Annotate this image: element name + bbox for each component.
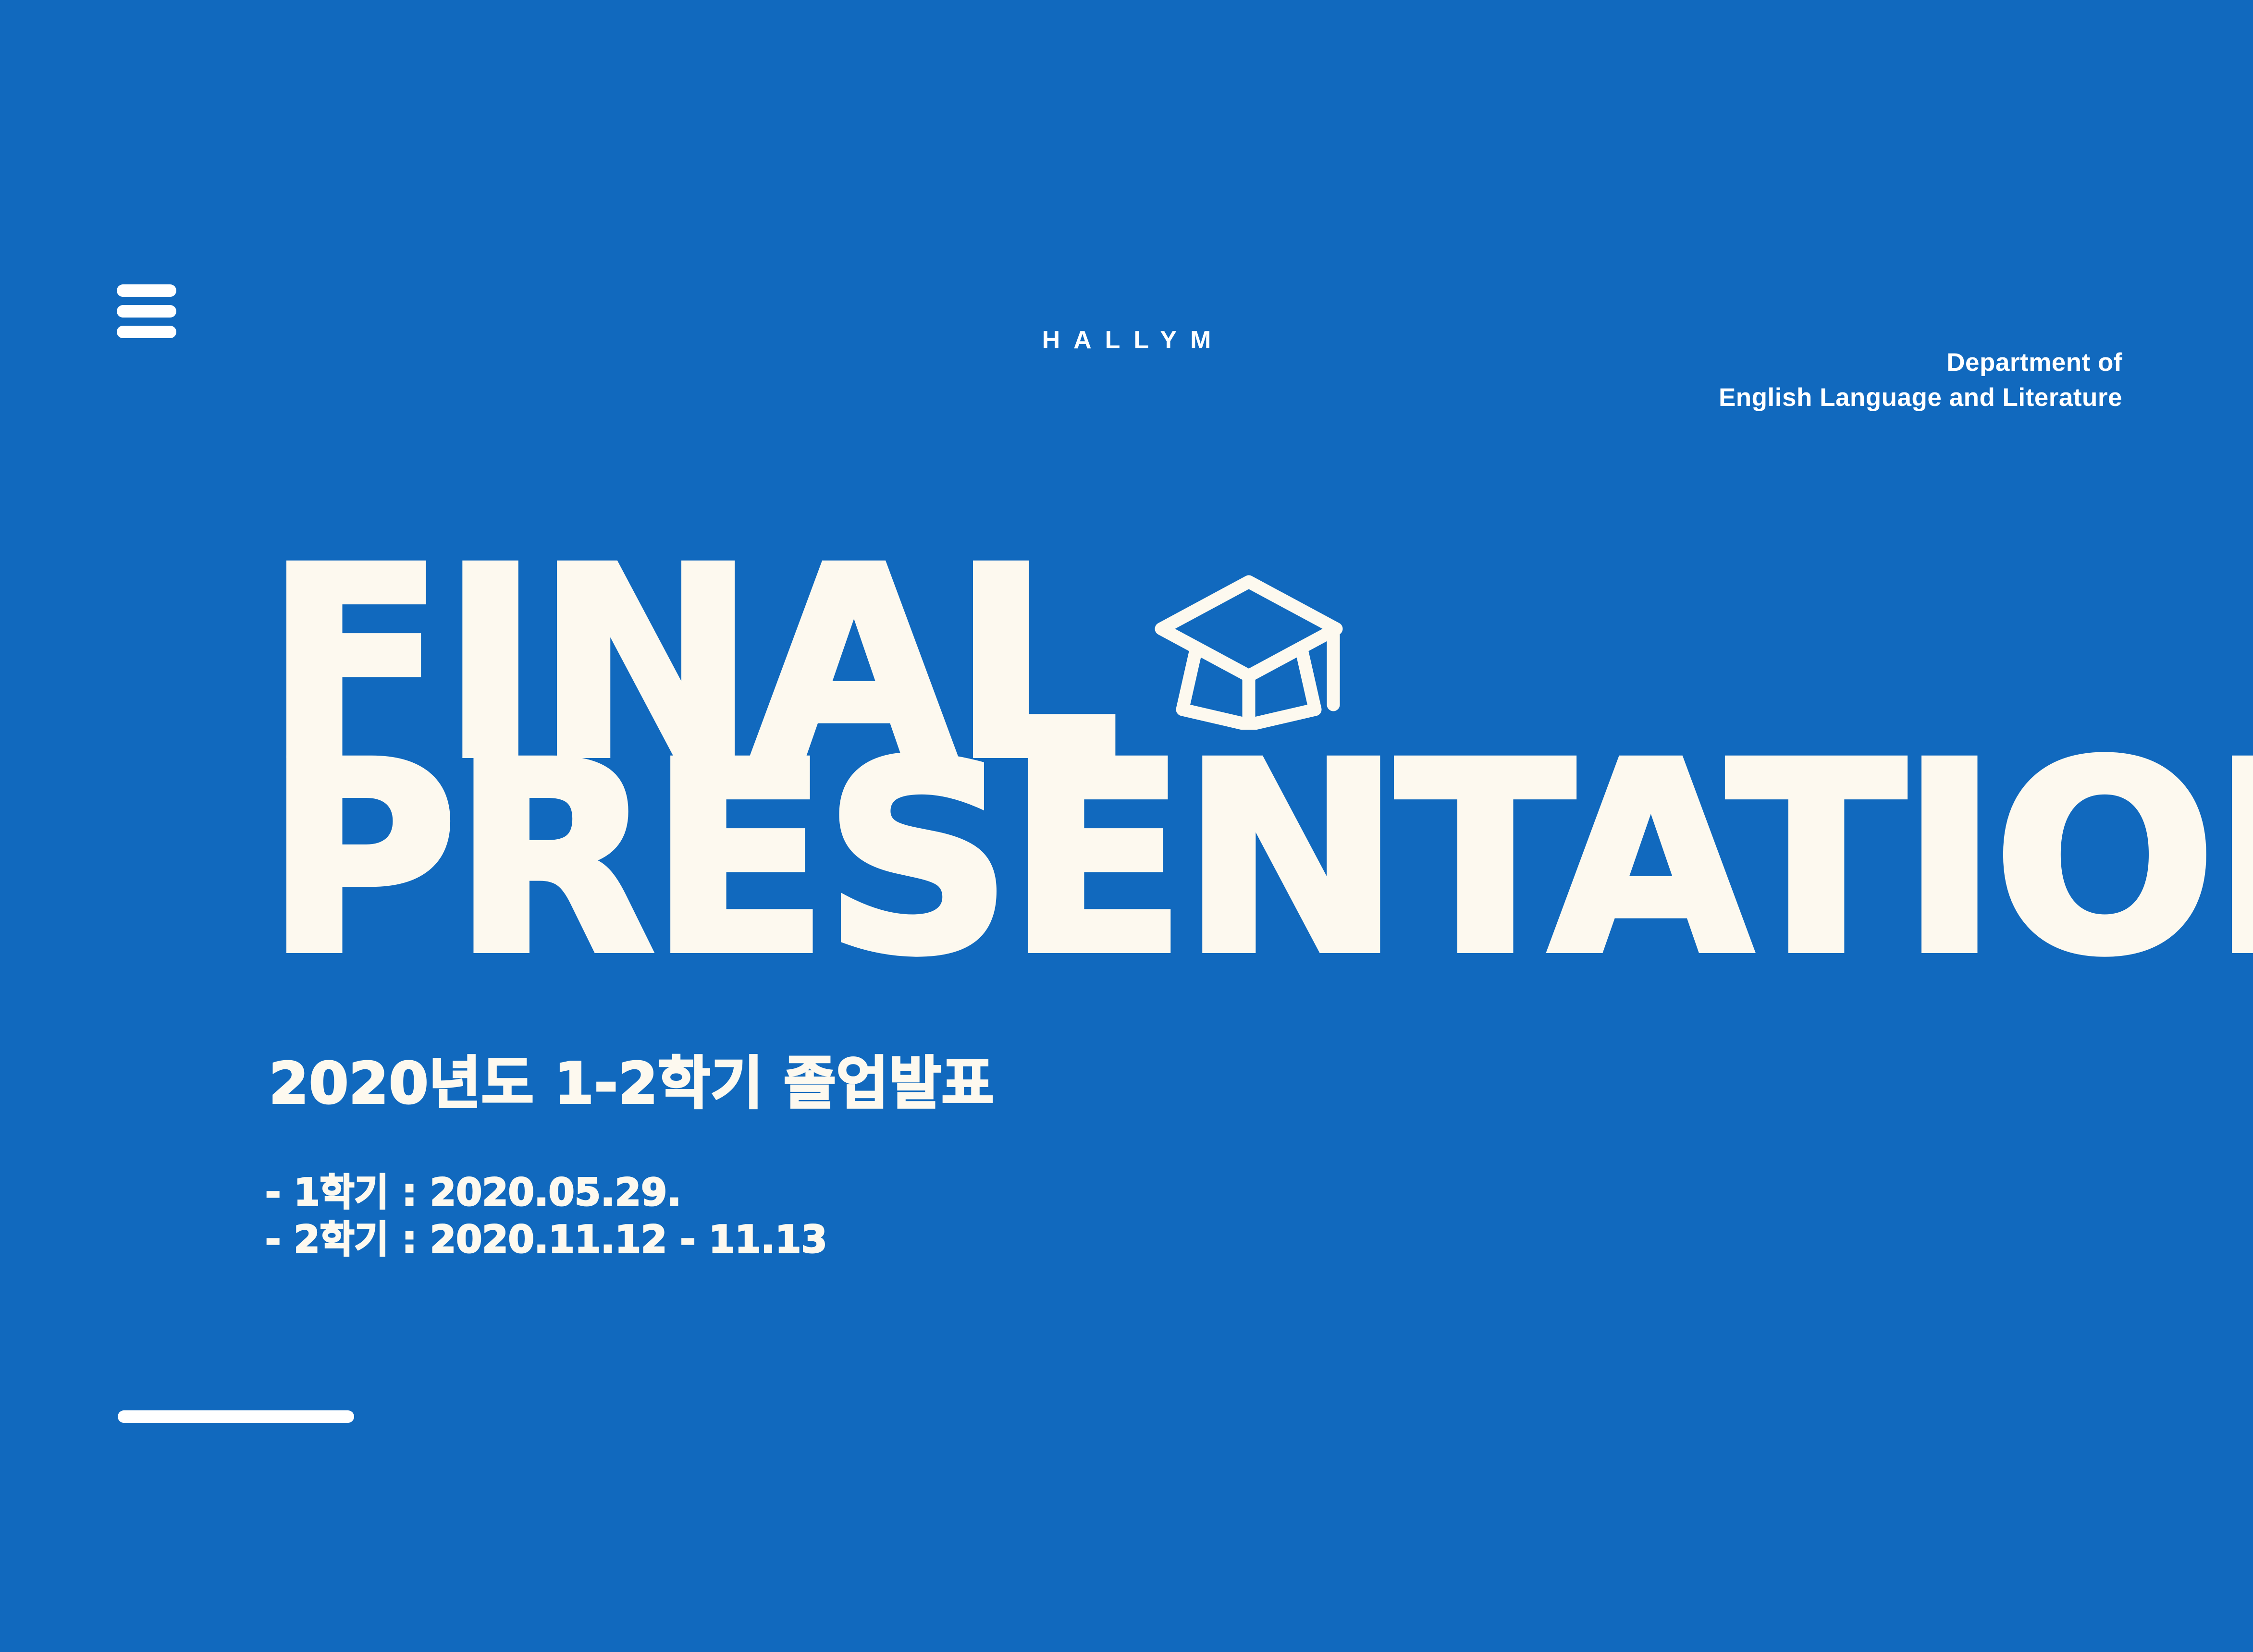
bottom-divider: [118, 1410, 354, 1423]
hamburger-bar-middle: [117, 305, 176, 318]
hamburger-bar-top: [117, 284, 176, 297]
title-text-presentation: PRESENTATION: [266, 749, 2253, 969]
page-title: FINAL PRESENTATION: [266, 542, 2044, 969]
date-line-semester-1: - 1학기 : 2020.05.29.: [265, 1169, 827, 1216]
presentation-title-slide: HALLYM Department of English Language an…: [0, 0, 2253, 1652]
department-line-1: Department of: [1719, 345, 2122, 380]
subtitle-korean: 2020년도 1-2학기 졸업발표: [269, 1055, 994, 1112]
title-line-presentation: PRESENTATION: [266, 763, 2044, 969]
date-list: - 1학기 : 2020.05.29. - 2학기 : 2020.11.12 -…: [265, 1169, 827, 1264]
department-label: Department of English Language and Liter…: [1719, 345, 2122, 415]
department-line-2: English Language and Literature: [1719, 380, 2122, 415]
date-line-semester-2: - 2학기 : 2020.11.12 - 11.13: [265, 1216, 827, 1263]
